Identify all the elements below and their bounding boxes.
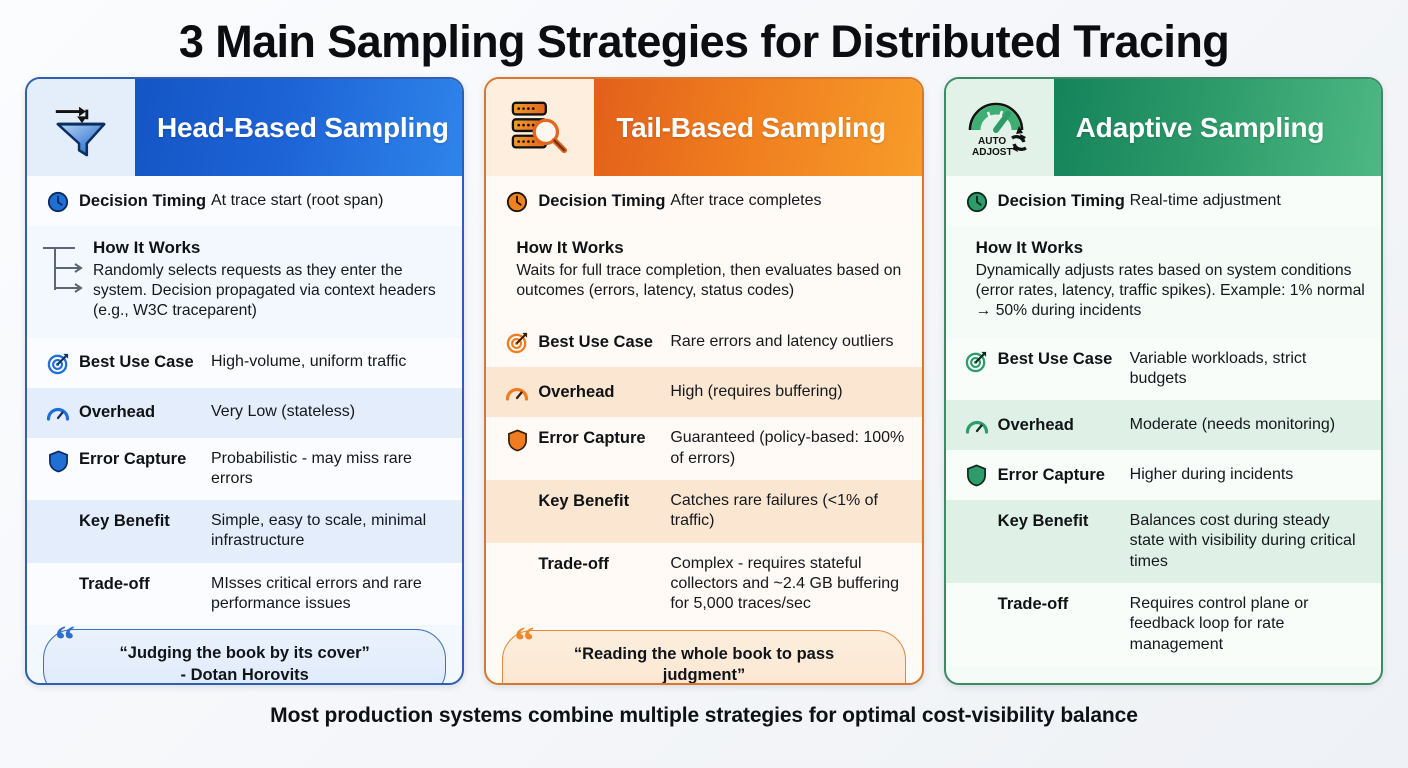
infographic-page: 3 Main Sampling Strategies for Distribut… xyxy=(0,0,1408,768)
how-it-works-block: How It Works Randomly selects requests a… xyxy=(27,226,462,337)
quote-attribution: - Dotan Horovits xyxy=(86,665,403,686)
how-it-works-block: How It Works Waits for full trace comple… xyxy=(486,226,921,317)
row-label: Decision Timing xyxy=(534,191,666,212)
row-trade-off: Trade-off Complex - requires stateful co… xyxy=(486,543,921,626)
row-label: Overhead xyxy=(534,382,666,403)
row-label: Error Capture xyxy=(534,428,666,449)
row-label: Decision Timing xyxy=(994,191,1126,212)
card-adaptive-sampling: AUTO ADJOST Adaptive Sampling Decision xyxy=(944,77,1383,685)
clock-icon xyxy=(41,190,75,213)
row-label: Error Capture xyxy=(994,465,1126,486)
row-value: Requires control plane or feedback loop … xyxy=(1126,594,1367,655)
spacer xyxy=(946,666,1381,683)
footer-note: Most production systems combine multiple… xyxy=(0,685,1408,728)
quote-box: “Judging the book by its cover” - Dotan … xyxy=(43,629,446,685)
how-it-works-text: Waits for full trace completion, then ev… xyxy=(516,261,905,301)
row-label: Key Benefit xyxy=(994,511,1126,532)
tree-branch-icon xyxy=(41,238,93,321)
card-title: Head-Based Sampling xyxy=(135,79,462,176)
quote-block: “ “Reading the whole book to pass judgme… xyxy=(502,630,905,686)
how-it-works-label: How It Works xyxy=(516,238,905,258)
row-label: Trade-off xyxy=(534,554,666,575)
card-header: Head-Based Sampling xyxy=(27,79,462,176)
quote-box: “Reading the whole book to pass judgment… xyxy=(502,630,905,686)
card-header: Tail-Based Sampling xyxy=(486,79,921,176)
row-error-capture: Error Capture Guaranteed (policy-based: … xyxy=(486,417,921,480)
row-best-use-case: Best Use Case High-volume, uniform traff… xyxy=(27,338,462,388)
row-overhead: Overhead Moderate (needs monitoring) xyxy=(946,400,1381,450)
row-value: MIsses critical errors and rare performa… xyxy=(207,574,448,615)
row-label: Trade-off xyxy=(75,574,207,595)
card-rows: Decision Timing At trace start (root spa… xyxy=(27,176,462,685)
row-decision-timing: Decision Timing Real-time adjustment xyxy=(946,176,1381,226)
row-decision-timing: Decision Timing After trace completes xyxy=(486,176,921,226)
cards-container: Head-Based Sampling Decision Timing At t… xyxy=(0,65,1408,685)
gauge-icon xyxy=(500,380,534,405)
row-label: Overhead xyxy=(75,402,207,423)
shield-icon xyxy=(41,449,75,473)
row-best-use-case: Best Use Case Variable workloads, strict… xyxy=(946,338,1381,401)
row-best-use-case: Best Use Case Rare errors and latency ou… xyxy=(486,317,921,367)
row-value: At trace start (root span) xyxy=(207,191,448,211)
row-key-benefit: Key Benefit Simple, easy to scale, minim… xyxy=(27,500,462,563)
adjust-label: ADJOST xyxy=(972,147,1013,158)
auto-label: AUTO xyxy=(978,136,1006,147)
row-key-benefit: Key Benefit Balances cost during steady … xyxy=(946,500,1381,583)
row-value: Very Low (stateless) xyxy=(207,402,448,422)
row-value: Guaranteed (policy-based: 100% of errors… xyxy=(666,428,907,469)
card-title: Adaptive Sampling xyxy=(1054,79,1381,176)
row-label: Key Benefit xyxy=(75,511,207,532)
quote-text: “Reading the whole book to pass judgment… xyxy=(545,644,862,686)
row-value: Variable workloads, strict budgets xyxy=(1126,349,1367,390)
row-value: Catches rare failures (<1% of traffic) xyxy=(666,491,907,532)
card-tail-based-sampling: Tail-Based Sampling Decision Timing Afte… xyxy=(484,77,923,685)
row-trade-off: Trade-off Requires control plane or feed… xyxy=(946,583,1381,666)
shield-icon xyxy=(960,463,994,487)
row-error-capture: Error Capture Probabilistic - may miss r… xyxy=(27,438,462,501)
row-value: Higher during incidents xyxy=(1126,465,1367,485)
target-icon xyxy=(960,349,994,373)
quote-open-mark: “ xyxy=(55,620,75,660)
row-value: Real-time adjustment xyxy=(1126,191,1367,211)
gauge-icon xyxy=(960,413,994,438)
row-label: Error Capture xyxy=(75,449,207,470)
row-value: Moderate (needs monitoring) xyxy=(1126,415,1367,435)
how-it-works-text: Randomly selects requests as they enter … xyxy=(93,261,446,321)
card-rows: Decision Timing Real-time adjustment How… xyxy=(946,176,1381,683)
how-it-works-label: How It Works xyxy=(93,238,446,258)
clock-icon xyxy=(500,190,534,213)
database-search-icon xyxy=(486,79,594,176)
how-it-works-block: How It Works Dynamically adjusts rates b… xyxy=(946,226,1381,337)
quote-open-mark: “ xyxy=(514,621,534,661)
row-error-capture: Error Capture Higher during incidents xyxy=(946,450,1381,500)
row-label: Trade-off xyxy=(994,594,1126,615)
row-trade-off: Trade-off MIsses critical errors and rar… xyxy=(27,563,462,626)
gauge-icon xyxy=(41,400,75,425)
row-value: Balances cost during steady state with v… xyxy=(1126,511,1367,572)
funnel-icon xyxy=(27,79,135,176)
row-overhead: Overhead High (requires buffering) xyxy=(486,367,921,417)
shield-icon xyxy=(500,428,534,452)
auto-adjust-gauge-icon: AUTO ADJOST xyxy=(946,79,1054,176)
row-label: Overhead xyxy=(994,415,1126,436)
row-value: High-volume, uniform traffic xyxy=(207,352,448,372)
row-value: Complex - requires stateful collectors a… xyxy=(666,554,907,615)
row-value: Rare errors and latency outliers xyxy=(666,332,907,352)
card-title: Tail-Based Sampling xyxy=(594,79,921,176)
target-icon xyxy=(500,330,534,354)
target-icon xyxy=(41,351,75,375)
row-label: Best Use Case xyxy=(534,332,666,353)
card-head-based-sampling: Head-Based Sampling Decision Timing At t… xyxy=(25,77,464,685)
row-key-benefit: Key Benefit Catches rare failures (<1% o… xyxy=(486,480,921,543)
quote-close-mark: ” xyxy=(416,683,436,686)
row-value: After trace completes xyxy=(666,191,907,211)
row-label: Best Use Case xyxy=(994,349,1126,370)
how-it-works-label: How It Works xyxy=(976,238,1365,258)
row-decision-timing: Decision Timing At trace start (root spa… xyxy=(27,176,462,226)
row-label: Best Use Case xyxy=(75,352,207,373)
quote-text: “Judging the book by its cover” xyxy=(86,643,403,664)
row-label: Key Benefit xyxy=(534,491,666,512)
card-header: AUTO ADJOST Adaptive Sampling xyxy=(946,79,1381,176)
quote-block: “ “Judging the book by its cover” - Dota… xyxy=(43,629,446,685)
how-it-works-text: Dynamically adjusts rates based on syste… xyxy=(976,261,1365,321)
row-label: Decision Timing xyxy=(75,191,207,212)
card-rows: Decision Timing After trace completes Ho… xyxy=(486,176,921,685)
row-value: Probabilistic - may miss rare errors xyxy=(207,449,448,490)
clock-icon xyxy=(960,190,994,213)
row-value: Simple, easy to scale, minimal infrastru… xyxy=(207,511,448,552)
row-value: High (requires buffering) xyxy=(666,382,907,402)
row-overhead: Overhead Very Low (stateless) xyxy=(27,388,462,438)
page-title: 3 Main Sampling Strategies for Distribut… xyxy=(0,0,1408,65)
